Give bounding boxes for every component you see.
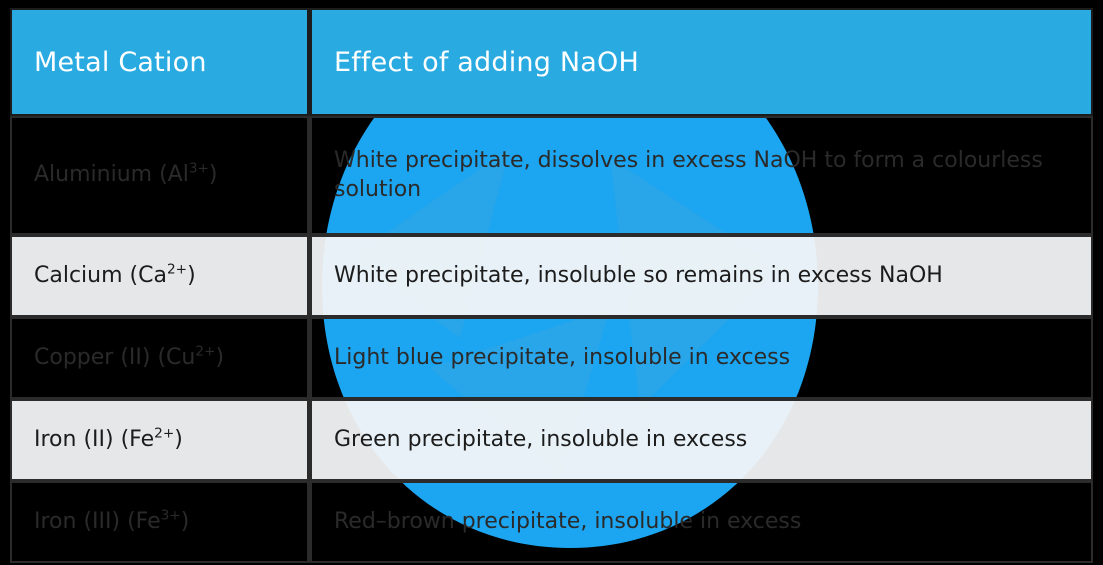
cell-effect: White precipitate, insoluble so remains … xyxy=(310,235,1093,317)
cell-metal-cation: Aluminium (Al3+) xyxy=(10,116,310,235)
column-header-effect-of-adding-naoh-label: Effect of adding NaOH xyxy=(334,47,639,78)
table-header: Metal Cation Effect of adding NaOH xyxy=(10,8,1093,116)
cation-label-aluminium: Aluminium (Al3+) xyxy=(34,162,218,187)
cation-label-iron-ii: Iron (II) (Fe2+) xyxy=(34,427,183,452)
cell-effect: Light blue precipitate, insoluble in exc… xyxy=(310,317,1093,399)
table-row: Aluminium (Al3+) White precipitate, diss… xyxy=(10,116,1093,235)
table-header-row: Metal Cation Effect of adding NaOH xyxy=(10,8,1093,116)
cation-charge-superscript: 2+ xyxy=(154,425,174,441)
cation-label-calcium: Calcium (Ca2+) xyxy=(34,263,196,288)
cation-charge-superscript: 3+ xyxy=(161,507,181,523)
table-body: Aluminium (Al3+) White precipitate, diss… xyxy=(10,116,1093,563)
table-row: Copper (II) (Cu2+) Light blue precipitat… xyxy=(10,317,1093,399)
cell-metal-cation: Iron (II) (Fe2+) xyxy=(10,399,310,481)
cell-effect: Red–brown precipitate, insoluble in exce… xyxy=(310,481,1093,563)
cation-label-iron-iii: Iron (III) (Fe3+) xyxy=(34,509,189,534)
cell-effect: Green precipitate, insoluble in excess xyxy=(310,399,1093,481)
screenshot-canvas: Metal Cation Effect of adding NaOH Alumi… xyxy=(0,0,1103,565)
table-row: Iron (II) (Fe2+) Green precipitate, inso… xyxy=(10,399,1093,481)
cation-charge-superscript: 2+ xyxy=(167,261,187,277)
table-row: Iron (III) (Fe3+) Red–brown precipitate,… xyxy=(10,481,1093,563)
cation-label-copper-ii: Copper (II) (Cu2+) xyxy=(34,345,224,370)
cation-charge-superscript: 2+ xyxy=(195,343,215,359)
table-row: Calcium (Ca2+) White precipitate, insolu… xyxy=(10,235,1093,317)
metal-cation-naoh-table: Metal Cation Effect of adding NaOH Alumi… xyxy=(10,8,1093,563)
cell-effect: White precipitate, dissolves in excess N… xyxy=(310,116,1093,235)
cation-charge-superscript: 3+ xyxy=(189,161,209,177)
cell-metal-cation: Copper (II) (Cu2+) xyxy=(10,317,310,399)
column-header-metal-cation-label: Metal Cation xyxy=(34,47,207,78)
column-header-effect-of-adding-naoh: Effect of adding NaOH xyxy=(310,8,1093,116)
column-header-metal-cation: Metal Cation xyxy=(10,8,310,116)
cation-naoh-table-container: Metal Cation Effect of adding NaOH Alumi… xyxy=(10,8,1093,548)
cell-metal-cation: Iron (III) (Fe3+) xyxy=(10,481,310,563)
cell-metal-cation: Calcium (Ca2+) xyxy=(10,235,310,317)
